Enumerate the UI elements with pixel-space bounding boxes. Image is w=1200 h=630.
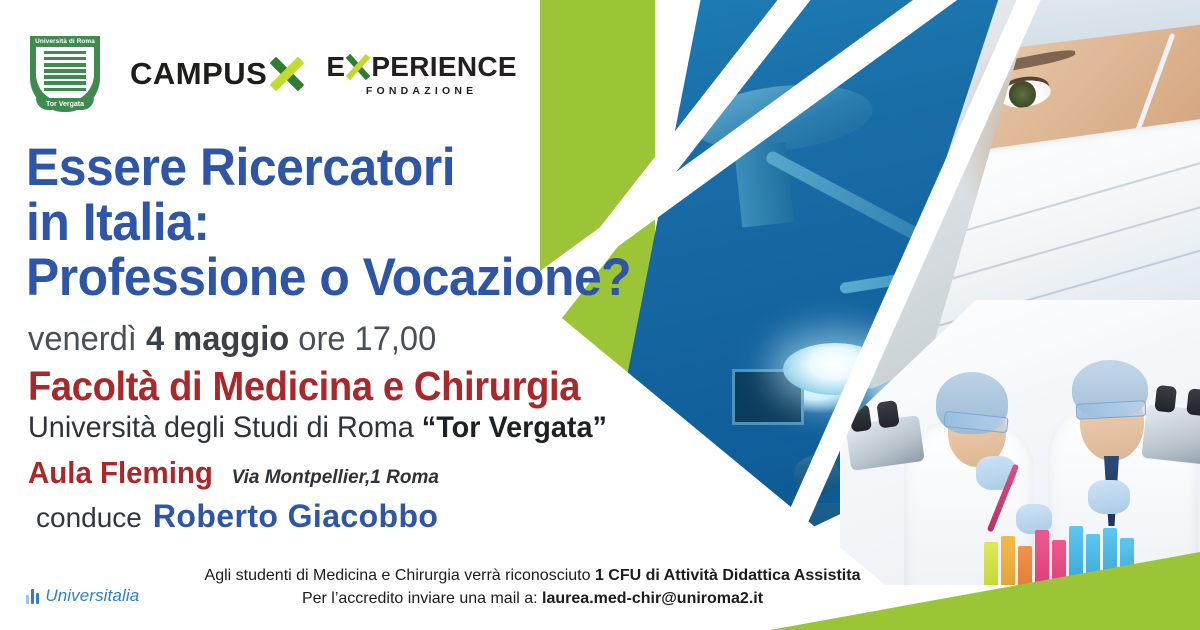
footer-line-2: Per l’accredito inviare una mail a: laur… [0, 587, 1065, 610]
footer-note: Agli studenti di Medicina e Chirurgia ve… [0, 564, 1065, 610]
host-name: Roberto Giacobbo [153, 498, 439, 535]
footer-line-2-prefix: Per l’accredito inviare una mail a: [302, 590, 542, 607]
experience-part1: E [326, 51, 345, 83]
crest-top-label: Università di Roma [30, 36, 100, 47]
footer-line-1-bold: 1 CFU di Attività Didattica Assistita [595, 567, 861, 584]
crest-bars-icon [44, 51, 86, 91]
tor-vergata-crest-logo: Università di Roma Tor Vergata [22, 32, 108, 116]
poster-content: Università di Roma Tor Vergata CAMPUS E … [0, 0, 780, 630]
host-prefix: conduce [36, 502, 142, 534]
date-suffix: ore 17,00 [298, 320, 436, 358]
venue-hall: Aula Fleming [28, 455, 213, 491]
event-venue: Aula Fleming Via Montpellier,1 Roma [28, 455, 439, 491]
footer-line-1: Agli studenti di Medicina e Chirurgia ve… [205, 567, 861, 584]
campusx-x-icon [270, 57, 304, 91]
experience-part2: PERIENCE [371, 51, 517, 83]
event-faculty: Facoltà di Medicina e Chirurgia [28, 363, 580, 410]
event-university: Università degli Studi di Roma “Tor Verg… [28, 411, 607, 445]
event-poster: Università di Roma Tor Vergata CAMPUS E … [0, 0, 1200, 630]
microscope-2 [1141, 404, 1200, 466]
gloved-hand-3 [1088, 480, 1130, 514]
university-prefix: Università degli Studi di Roma [28, 411, 414, 444]
campusx-wordmark: CAMPUS [130, 56, 267, 92]
date-bold: 4 maggio [146, 320, 289, 358]
footer-line-1-prefix: Agli studenti di Medicina e Chirurgia ve… [205, 567, 595, 584]
campusx-logo: CAMPUS [130, 56, 304, 92]
title-line-1: Essere Ricercatori [26, 140, 631, 195]
title-line-3: Professione o Vocazione? [26, 250, 631, 305]
venue-address: Via Montpellier,1 Roma [232, 467, 439, 489]
event-datetime: venerdì 4 maggio ore 17,00 [28, 320, 436, 359]
date-prefix: venerdì [28, 320, 137, 358]
event-host: conduce Roberto Giacobbo [36, 498, 438, 535]
crest-bottom-label: Tor Vergata [36, 98, 94, 110]
title-line-2: in Italia: [26, 195, 631, 250]
university-name: “Tor Vergata” [422, 411, 607, 444]
footer-email: laurea.med-chir@uniroma2.it [542, 590, 763, 607]
logo-row: Università di Roma Tor Vergata CAMPUS E … [22, 32, 517, 116]
experience-wordmark: E PERIENCE [326, 51, 517, 83]
page-title: Essere Ricercatori in Italia: Profession… [26, 140, 631, 305]
experience-logo: E PERIENCE FONDAZIONE [326, 51, 517, 97]
experience-x-icon [346, 54, 370, 80]
experience-subtitle: FONDAZIONE [366, 85, 477, 97]
